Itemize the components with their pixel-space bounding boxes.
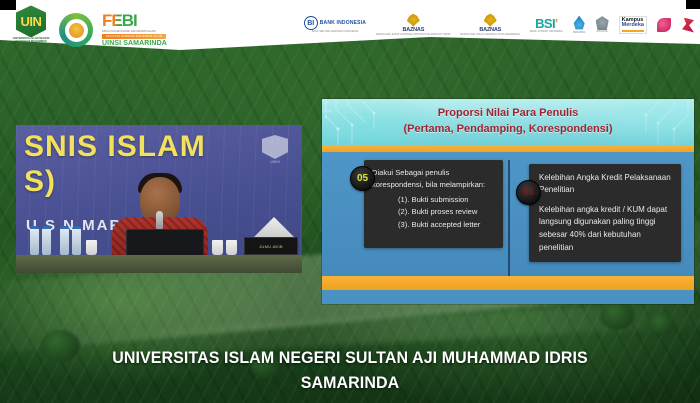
uin-shield-icon: UIN [16,5,46,37]
ring-inner-icon [65,19,88,42]
slide-header: Proporsi Nilai Para Penulis (Pertama, Pe… [322,99,694,145]
left-card-lead: Diakui Sebagai penulis korespondensi, bi… [372,167,497,192]
febi-sub-caption: FAKULTAS EKONOMI DAN BISNIS ISLAM [102,30,156,33]
pink-leaf-icon [657,18,671,32]
bsi-logo: BSI' BANK SYARIAH INDONESIA [530,17,563,34]
anniversary-ring-logo [59,13,93,47]
bsi-wordmark: BSI' [535,17,557,30]
drinking-cup [226,240,237,255]
list-item: (2). Bukti proses review [398,206,497,219]
baznas-kaltim-logo: BAZNAS BADAN AMIL ZAKAT NASIONAL PROVINS… [376,14,450,37]
water-bottle [42,226,51,255]
slide-divider [508,160,510,276]
red-swoosh-logo [681,18,694,33]
step-badge-05: 05 [350,166,375,191]
slide-card-right: Kelebihan Angka Kredit Pelaksanaan Penel… [529,164,681,262]
list-item: (1). Bukti submission [398,194,497,207]
slide-body: 05 Diakui Sebagai penulis korespondensi,… [322,152,694,290]
ring-core-icon [69,23,84,38]
baznas-samarinda-logo: BAZNAS BADAN AMIL ZAKAT NASIONAL KOTA SA… [461,14,520,37]
uin-samarinda-logo: UIN UNIVERSITAS ISLAM NEGERI SULTAN AJI … [12,5,50,47]
right-card-heading: Kelebihan Angka Kredit Pelaksanaan Penel… [539,172,673,197]
caption-line1: UNIVERSITAS ISLAM NEGERI SULTAN AJI MUHA… [21,345,679,370]
emblem-caption: UINSI [262,160,288,164]
pdam-caption: PERUMDA [573,32,586,35]
bank-indonesia-wordmark: BANK INDONESIA [320,20,366,26]
baznas-samarinda-wordmark: BAZNAS [479,27,501,33]
nameplate: JUMU AKIB [244,237,298,255]
pdam-droplet-logo: PERUMDA [573,16,586,35]
water-bottle [60,226,69,255]
slide-title-line2: (Pertama, Pendamping, Korespondensi) [322,122,694,138]
nameplate-text: JUMU AKIB [259,244,283,249]
microphone-icon [156,211,163,231]
garuda-icon [407,14,420,27]
background-tree [600,300,634,330]
grey-emblem-icon [596,16,609,30]
host-logo-group: UIN UNIVERSITAS ISLAM NEGERI SULTAN AJI … [12,7,167,47]
livestream-frame: UIN UNIVERSITAS ISLAM NEGERI SULTAN AJI … [0,0,700,403]
baznas-kaltim-wordmark: BAZNAS [402,27,424,33]
broadcast-caption: UNIVERSITAS ISLAM NEGERI SULTAN AJI MUHA… [21,345,679,395]
slide-accent-bar-top [322,145,694,152]
right-card-body: Kelebihan angka kredit / KUM dapat langs… [539,204,673,255]
left-card-list: (1). Bukti submission (2). Bukti proses … [372,194,497,232]
backdrop-emblem-icon: UINSI [262,135,288,165]
kampus-merdeka-logo: Kampus Merdeka [619,16,647,35]
grey-emblem-caption: INSTANSI [596,31,607,34]
caption-line2: SAMARINDA [21,370,679,395]
list-item: (3). Bukti accepted letter [398,219,497,232]
droplet-icon [573,16,586,31]
drinking-cup [212,240,223,255]
water-bottle [72,226,81,255]
background-tree [648,312,674,336]
bsi-dot-icon: ' [555,16,558,31]
febi-bar-caption: FAKULTAS EKONOMI DAN BISNIS ISLAM [102,34,166,39]
backdrop-title-line2: S) [24,165,56,199]
bi-circle-icon: BI [304,16,318,30]
speaker-table [16,255,302,273]
pink-leaf-logo [657,18,671,32]
bank-indonesia-mark-icon: BI BANK INDONESIA [304,16,366,30]
kampus-merdeka-line2: Merdeka [622,23,644,29]
bsi-text: BSI [535,16,555,31]
bank-indonesia-caption: BANK SENTRAL REPUBLIK INDONESIA [312,31,358,34]
emblem-shield-icon [262,135,288,159]
presentation-slide[interactable]: Proporsi Nilai Para Penulis (Pertama, Pe… [322,99,694,304]
speaker-video-panel[interactable]: SNIS ISLAM S) UINSI U S N MARIN JUMU AKI… [16,125,302,273]
slide-title-line1: Proporsi Nilai Para Penulis [322,106,694,122]
kampus-merdeka-bar-icon [622,30,644,33]
grey-emblem-logo: INSTANSI [596,16,609,34]
baznas-kaltim-caption: BADAN AMIL ZAKAT NASIONAL PROVINSI KALIM… [376,34,450,37]
backdrop-title-line1: SNIS ISLAM [24,130,206,164]
febi-wordmark: FEBI [102,12,137,29]
febi-org-label: UINSI SAMARINDA [102,40,167,47]
water-bottle [30,226,39,255]
ring-icon [59,13,93,47]
slide-accent-bar-bottom [322,276,694,290]
bsi-caption: BANK SYARIAH INDONESIA [530,31,563,34]
red-swoosh-icon [681,18,694,33]
slide-card-left: Diakui Sebagai penulis korespondensi, bi… [364,160,503,248]
bank-indonesia-logo: BI BANK INDONESIA BANK SENTRAL REPUBLIK … [304,16,366,34]
step-badge-06: 06 [516,180,541,205]
garuda-icon [484,14,497,27]
slide-title: Proporsi Nilai Para Penulis (Pertama, Pe… [322,99,694,138]
febi-logo: FEBI FAKULTAS EKONOMI DAN BISNIS ISLAM F… [102,12,167,47]
partner-logo-group: BI BANK INDONESIA BANK SENTRAL REPUBLIK … [304,9,694,41]
baznas-samarinda-caption: BADAN AMIL ZAKAT NASIONAL KOTA SAMARINDA [461,34,520,37]
uin-logo-caption: UNIVERSITAS ISLAM NEGERI SULTAN AJI MUHA… [12,38,50,47]
banner-corner-right [686,0,700,9]
drinking-cup [86,240,97,255]
